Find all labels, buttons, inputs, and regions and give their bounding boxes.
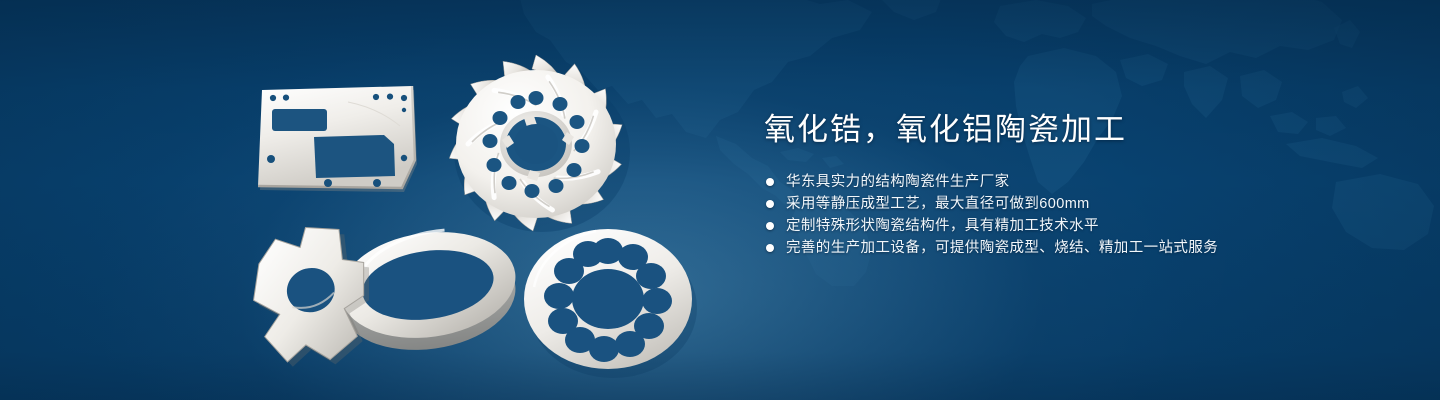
ceramic-plate-part xyxy=(252,82,442,197)
promo-banner: 氧化锆，氧化铝陶瓷加工 华东具实力的结构陶瓷件生产厂家 采用等静压成型工艺，最大… xyxy=(0,0,1440,400)
banner-text-block: 氧化锆，氧化铝陶瓷加工 华东具实力的结构陶瓷件生产厂家 采用等静压成型工艺，最大… xyxy=(764,110,1364,259)
list-item: 采用等静压成型工艺，最大直径可做到600mm xyxy=(766,193,1364,215)
ceramic-disc-part xyxy=(518,225,698,375)
ceramic-cross-part xyxy=(250,222,390,367)
list-item: 完善的生产加工设备，可提供陶瓷成型、烧结、精加工一站式服务 xyxy=(766,237,1364,259)
list-item: 华东具实力的结构陶瓷件生产厂家 xyxy=(766,171,1364,193)
page-title: 氧化锆，氧化铝陶瓷加工 xyxy=(764,110,1364,150)
bullet-dot-icon xyxy=(766,178,774,186)
list-item-label: 采用等静压成型工艺，最大直径可做到600mm xyxy=(786,193,1090,215)
bullet-dot-icon xyxy=(766,222,774,230)
list-item-label: 定制特殊形状陶瓷结构件，具有精加工技术水平 xyxy=(786,215,1099,237)
feature-list: 华东具实力的结构陶瓷件生产厂家 采用等静压成型工艺，最大直径可做到600mm 定… xyxy=(766,171,1364,259)
list-item-label: 华东具实力的结构陶瓷件生产厂家 xyxy=(786,171,1010,193)
ceramic-impeller-part xyxy=(438,48,638,238)
bullet-dot-icon xyxy=(766,244,774,252)
list-item-label: 完善的生产加工设备，可提供陶瓷成型、烧结、精加工一站式服务 xyxy=(786,237,1218,259)
product-photo-group xyxy=(0,0,760,400)
bullet-dot-icon xyxy=(766,200,774,208)
list-item: 定制特殊形状陶瓷结构件，具有精加工技术水平 xyxy=(766,215,1364,237)
